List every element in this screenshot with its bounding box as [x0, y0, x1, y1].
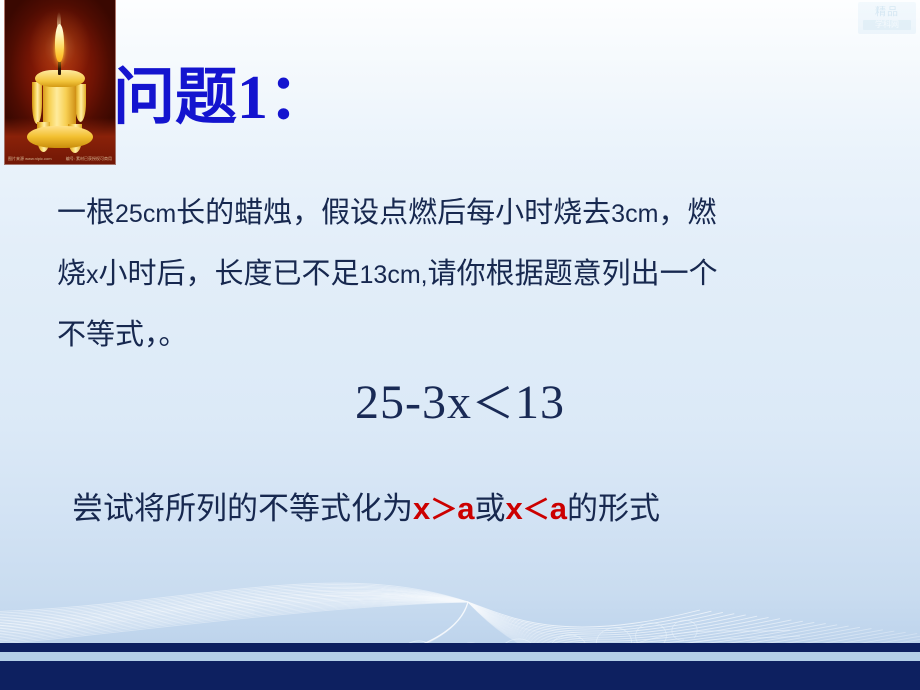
problem-line-1: 一根25cm长的蜡烛，假设点燃后每小时烧去3cm，燃	[57, 183, 872, 244]
instruction-lead: 尝试将所列的不等式化为	[72, 491, 413, 526]
form1-value: a	[457, 491, 474, 526]
image-credit-right: 编号: 素材已获授权可商用	[58, 156, 112, 162]
flame-tip	[57, 12, 61, 32]
line1-part-b: 长的蜡烛，假设点燃后每小时烧去	[176, 197, 611, 229]
bottom-band-navy-upper	[0, 643, 920, 652]
problem-line-3: 不等式，。	[57, 305, 872, 365]
line2-variable-x: x	[86, 261, 99, 289]
problem-line-2: 烧x小时后，长度已不足13cm,请你根据题意列出一个	[57, 244, 872, 305]
inequality-equation: 25-3x＜13	[0, 374, 920, 434]
form-x-greater-a: x＞a	[413, 491, 475, 526]
watermark-logo: 精品 学科网	[858, 2, 916, 34]
line1-part-c: ，燃	[658, 197, 716, 229]
line2-part-a: 烧	[57, 258, 86, 290]
presentation-slide: 精品 学科网 图片来源 www.nipic.com 编号: 素材已获授权可商用 …	[0, 0, 920, 690]
form2-operator: ＜	[523, 495, 550, 525]
line2-part-c: 请你根据题意列出一个	[428, 258, 718, 290]
wax-drip	[32, 82, 42, 124]
form1-operator: ＞	[430, 495, 457, 525]
watermark-line1: 精品	[864, 6, 910, 19]
equation-right: 13	[515, 376, 565, 429]
form2-variable: x	[506, 491, 523, 526]
image-credit-left: 图片来源 www.nipic.com	[8, 156, 58, 162]
bottom-band-light	[0, 652, 920, 661]
instruction-tail: 的形式	[567, 491, 660, 526]
equation-left: 25-3x	[355, 376, 472, 429]
candle-image: 图片来源 www.nipic.com 编号: 素材已获授权可商用	[5, 0, 115, 164]
problem-statement: 一根25cm长的蜡烛，假设点燃后每小时烧去3cm，燃 烧x小时后，长度已不足13…	[57, 183, 872, 365]
wax-drip	[75, 84, 86, 122]
line1-number-3cm: 3cm	[611, 200, 658, 228]
line2-part-b: 小时后，长度已不足	[99, 258, 360, 290]
form2-value: a	[550, 491, 567, 526]
instruction-connector: 或	[475, 491, 506, 526]
slide-title: 问题1：	[113, 62, 330, 134]
form1-variable: x	[413, 491, 430, 526]
wax-pool	[27, 126, 93, 148]
instruction-line: 尝试将所列的不等式化为x＞a或x＜a的形式	[72, 487, 660, 532]
form-x-less-a: x＜a	[506, 491, 568, 526]
watermark-line2: 学科网	[863, 20, 911, 30]
line1-part-a: 一根	[57, 197, 115, 229]
bottom-band-navy-lower	[0, 661, 920, 690]
line1-number-25cm: 25cm	[115, 200, 176, 228]
line2-number-13cm: 13cm,	[360, 261, 428, 289]
equation-operator: ＜	[472, 382, 515, 428]
